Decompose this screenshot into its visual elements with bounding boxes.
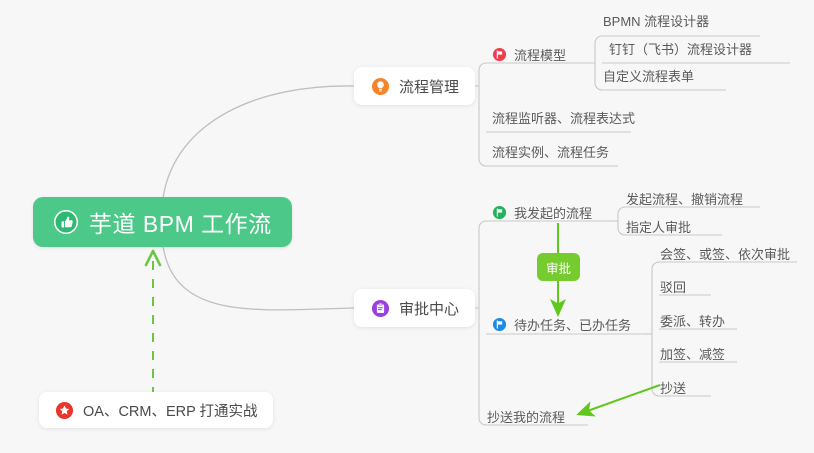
- edge-spine-my-started-process: [618, 207, 625, 235]
- group-label-process-model[interactable]: 流程模型: [492, 45, 566, 64]
- branch-node-process-management[interactable]: 流程管理: [354, 67, 475, 105]
- group-text-todo-tasks: 待办任务、已办任务: [514, 315, 631, 334]
- root-label: 芋道 BPM 工作流: [89, 205, 272, 239]
- edge-root-to-process-management: [163, 86, 354, 198]
- group-label-my-started-process[interactable]: 我发起的流程: [492, 203, 592, 222]
- branch-label-process-management: 流程管理: [399, 76, 459, 97]
- edge-spine-approval-center: [479, 221, 486, 425]
- leaf-delegate[interactable]: 委派、转办: [660, 311, 725, 330]
- group-label-todo-tasks[interactable]: 待办任务、已办任务: [492, 315, 631, 334]
- arrow-cc-to-cc-my-process: [579, 385, 660, 414]
- mindmap-canvas: 芋道 BPM 工作流 OA、CRM、ERP 打通实战 流程管理: [0, 0, 814, 453]
- leaf-assignee-approval[interactable]: 指定人审批: [626, 217, 691, 236]
- edge-root-to-approval-center: [163, 246, 354, 310]
- branch-node-approval-center[interactable]: 审批中心: [354, 289, 475, 327]
- edge-spine-process-model: [595, 36, 602, 90]
- flag-icon: [492, 317, 507, 332]
- clipboard-icon: [370, 298, 390, 318]
- group-text-my-started-process: 我发起的流程: [514, 203, 592, 222]
- branch-label-approval-center: 审批中心: [399, 298, 459, 319]
- leaf-dingtalk-designer[interactable]: 钉钉（飞书）流程设计器: [609, 39, 752, 58]
- star-icon: [54, 400, 74, 420]
- leaf-cc[interactable]: 抄送: [660, 378, 686, 397]
- leaf-start-cancel-process[interactable]: 发起流程、撤销流程: [626, 189, 743, 208]
- thumbs-up-icon: [53, 209, 79, 235]
- leaf-custom-form[interactable]: 自定义流程表单: [603, 66, 694, 85]
- annotation-tag-approval[interactable]: 审批: [537, 253, 580, 281]
- flag-icon: [492, 205, 507, 220]
- leaf-process-listener[interactable]: 流程监听器、流程表达式: [492, 108, 635, 127]
- leaf-process-instance[interactable]: 流程实例、流程任务: [492, 142, 609, 161]
- leaf-add-sign[interactable]: 加签、减签: [660, 344, 725, 363]
- lightbulb-icon: [370, 76, 390, 96]
- edge-spine-todo-tasks: [652, 262, 659, 396]
- leaf-countersign[interactable]: 会签、或签、依次审批: [660, 244, 790, 263]
- root-node[interactable]: 芋道 BPM 工作流: [33, 197, 292, 247]
- note-label: OA、CRM、ERP 打通实战: [83, 400, 258, 421]
- group-text-process-model: 流程模型: [514, 45, 566, 64]
- leaf-reject[interactable]: 驳回: [660, 277, 686, 296]
- leaf-cc-my-process[interactable]: 抄送我的流程: [487, 407, 565, 426]
- flag-icon: [492, 47, 507, 62]
- note-node-integration[interactable]: OA、CRM、ERP 打通实战: [39, 392, 273, 428]
- edge-spine-process-management: [479, 63, 486, 166]
- leaf-bpmn-designer[interactable]: BPMN 流程设计器: [603, 11, 709, 30]
- annotation-tag-label: 审批: [546, 258, 571, 277]
